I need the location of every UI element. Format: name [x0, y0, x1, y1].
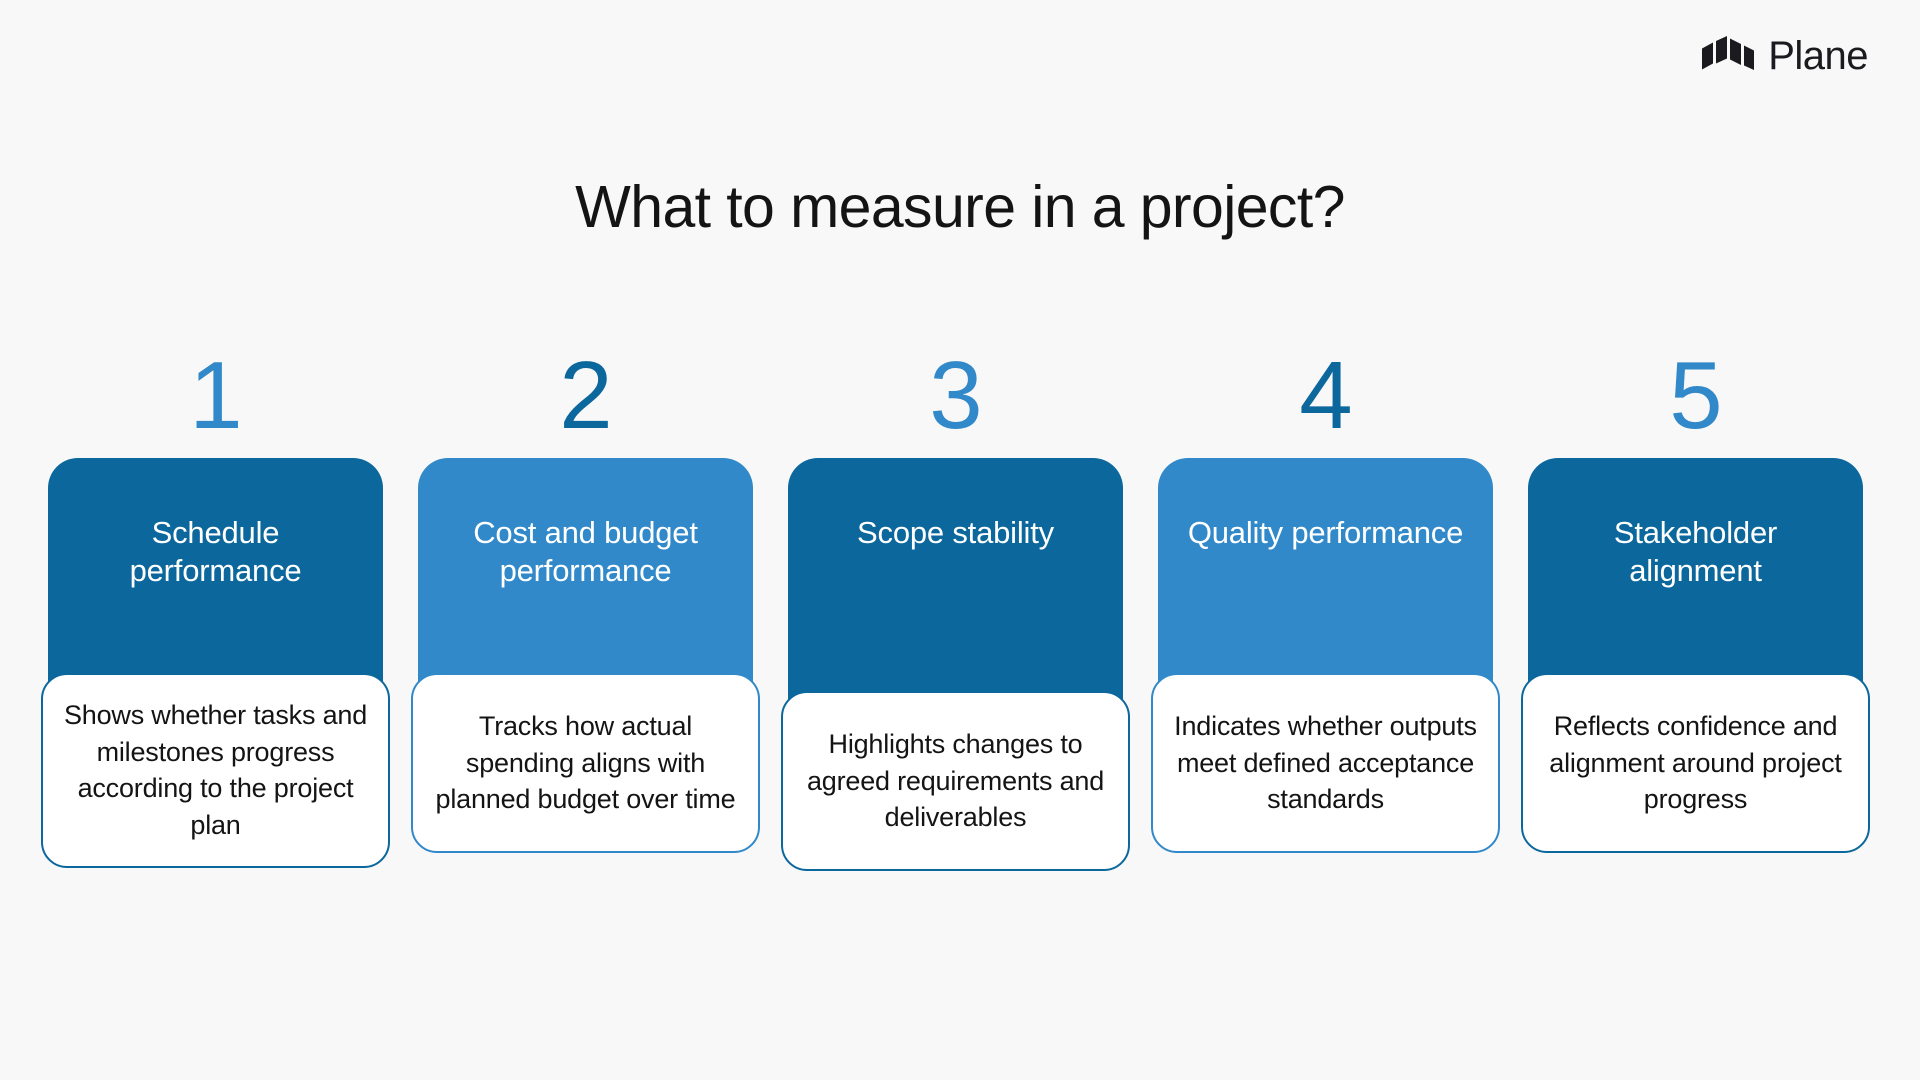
card-title: Cost and budget performance — [440, 514, 731, 590]
card-description-box: Reflects confidence and alignment around… — [1521, 673, 1870, 853]
card-number: 1 — [48, 348, 383, 444]
measure-card: 3Scope stabilityHighlights changes to ag… — [788, 348, 1123, 918]
card-description: Highlights changes to agreed requirement… — [799, 726, 1112, 836]
card-number: 4 — [1158, 348, 1493, 444]
card-description-box: Indicates whether outputs meet defined a… — [1151, 673, 1500, 853]
card-description: Indicates whether outputs meet defined a… — [1169, 708, 1482, 818]
measure-card: 1Schedule performanceShows whether tasks… — [48, 348, 383, 918]
measure-card: 5Stakeholder alignmentReflects confidenc… — [1528, 348, 1863, 918]
brand-name: Plane — [1768, 36, 1868, 76]
card-description-box: Highlights changes to agreed requirement… — [781, 691, 1130, 871]
plane-logo-icon — [1702, 36, 1754, 76]
card-title: Scope stability — [857, 514, 1054, 552]
card-number: 2 — [418, 348, 753, 444]
card-description-box: Tracks how actual spending aligns with p… — [411, 673, 760, 853]
measure-card-row: 1Schedule performanceShows whether tasks… — [48, 348, 1872, 918]
card-number: 3 — [788, 348, 1123, 444]
measure-card: 4Quality performanceIndicates whether ou… — [1158, 348, 1493, 918]
brand-logo: Plane — [1702, 36, 1868, 76]
card-description: Tracks how actual spending aligns with p… — [429, 708, 742, 818]
card-header-panel: Scope stability — [788, 458, 1123, 730]
page-title: What to measure in a project? — [0, 176, 1920, 240]
card-title: Stakeholder alignment — [1550, 514, 1841, 590]
card-title: Quality performance — [1188, 514, 1463, 552]
measure-card: 2Cost and budget performanceTracks how a… — [418, 348, 753, 918]
card-title: Schedule performance — [70, 514, 361, 590]
card-description: Reflects confidence and alignment around… — [1539, 708, 1852, 818]
card-description-box: Shows whether tasks and milestones progr… — [41, 673, 390, 868]
card-description: Shows whether tasks and milestones progr… — [59, 697, 372, 844]
card-number: 5 — [1528, 348, 1863, 444]
